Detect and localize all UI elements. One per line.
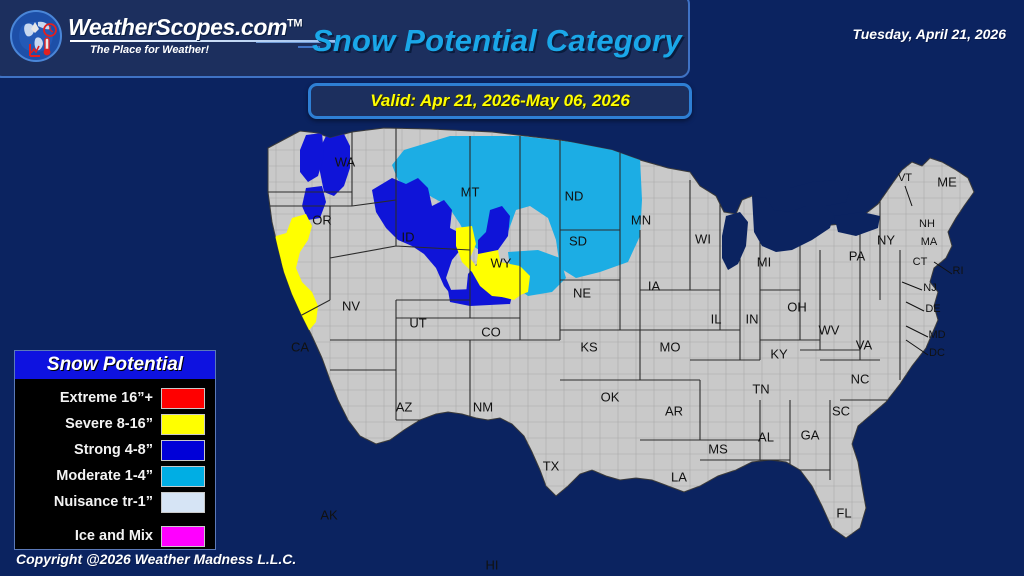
state-label-mo: MO xyxy=(660,339,681,354)
state-label-ky: KY xyxy=(770,346,788,361)
legend-item-ice-and-mix: Ice and Mix xyxy=(15,523,215,549)
valid-period-banner: Valid: Apr 21, 2026-May 06, 2026 xyxy=(308,83,692,119)
state-label-ca: CA xyxy=(291,339,309,354)
legend-rows: Extreme 16”+Severe 8-16”Strong 4-8”Moder… xyxy=(15,379,215,549)
legend-item-label: Ice and Mix xyxy=(75,528,153,544)
state-label-ny: NY xyxy=(877,232,895,247)
legend-item-strong: Strong 4-8” xyxy=(15,437,215,463)
legend-title: Snow Potential xyxy=(15,351,215,379)
legend-item-label: Nuisance tr-1” xyxy=(54,494,153,510)
state-label-ms: MS xyxy=(708,441,728,456)
legend-item-swatch xyxy=(161,440,205,461)
state-label-ma: MA xyxy=(921,236,938,248)
state-label-nm: NM xyxy=(473,399,493,414)
state-label-vt: VT xyxy=(898,172,912,184)
state-label-nc: NC xyxy=(851,371,870,386)
state-label-mn: MN xyxy=(631,212,651,227)
state-label-la: LA xyxy=(671,469,687,484)
legend-item-nuisance: Nuisance tr-1” xyxy=(15,489,215,515)
state-label-nd: ND xyxy=(565,188,584,203)
state-label-ok: OK xyxy=(601,389,620,404)
state-label-ri: RI xyxy=(953,265,964,277)
state-label-in: IN xyxy=(746,311,759,326)
brand-name: WeatherScopes.comTM xyxy=(68,14,302,41)
legend-item-severe: Severe 8-16” xyxy=(15,411,215,437)
state-label-hi: HI xyxy=(486,557,499,572)
state-label-ak: AK xyxy=(320,507,338,522)
legend-item-label: Strong 4-8” xyxy=(74,442,153,458)
state-label-mi: MI xyxy=(757,254,771,269)
state-label-mt: MT xyxy=(461,184,480,199)
state-label-nv: NV xyxy=(342,298,360,313)
state-label-md: MD xyxy=(928,329,945,341)
current-date: Tuesday, April 21, 2026 xyxy=(852,26,1006,42)
state-label-me: ME xyxy=(937,174,957,189)
legend-item-label: Severe 8-16” xyxy=(65,416,153,432)
state-label-ar: AR xyxy=(665,403,683,418)
state-label-il: IL xyxy=(711,311,722,326)
state-label-wi: WI xyxy=(695,231,711,246)
state-label-dc: DC xyxy=(929,347,945,359)
state-label-sd: SD xyxy=(569,233,587,248)
state-label-ne: NE xyxy=(573,285,591,300)
state-label-va: VA xyxy=(856,337,873,352)
state-label-sc: SC xyxy=(832,403,850,418)
legend-item-swatch xyxy=(161,414,205,435)
state-label-id: ID xyxy=(402,229,415,244)
snow-potential-legend: Snow Potential Extreme 16”+Severe 8-16”S… xyxy=(14,350,216,550)
state-label-ga: GA xyxy=(801,427,820,442)
weather-map-page: WAORCANVIDMTWYUTAZNMCONDSDNEKSOKTXMNIAMO… xyxy=(0,0,1024,576)
state-label-az: AZ xyxy=(396,399,413,414)
legend-item-extreme: Extreme 16”+ xyxy=(15,385,215,411)
trademark-symbol: TM xyxy=(287,17,302,29)
state-label-pa: PA xyxy=(849,248,866,263)
legend-item-label: Extreme 16”+ xyxy=(60,390,153,406)
state-label-tx: TX xyxy=(543,458,560,473)
state-label-wy: WY xyxy=(491,255,512,270)
weatherscopes-globe-logo xyxy=(8,8,64,64)
state-label-or: OR xyxy=(312,212,332,227)
legend-item-swatch xyxy=(161,466,205,487)
state-label-co: CO xyxy=(481,324,501,339)
state-label-tn: TN xyxy=(752,381,769,396)
state-label-al: AL xyxy=(758,429,774,444)
legend-item-moderate: Moderate 1-4” xyxy=(15,463,215,489)
legend-item-label: Moderate 1-4” xyxy=(56,468,153,484)
page-title: Snow Potential Category xyxy=(312,23,682,59)
state-label-ct: CT xyxy=(913,256,928,268)
state-label-oh: OH xyxy=(787,299,807,314)
legend-item-swatch xyxy=(161,492,205,513)
valid-period-text: Valid: Apr 21, 2026-May 06, 2026 xyxy=(311,86,689,116)
copyright-text: Copyright @2026 Weather Madness L.L.C. xyxy=(16,551,296,567)
legend-item-swatch xyxy=(161,526,205,547)
state-label-de: DE xyxy=(925,303,940,315)
legend-item-swatch xyxy=(161,388,205,409)
state-label-wv: WV xyxy=(819,322,840,337)
state-label-nj: NJ xyxy=(923,282,936,294)
state-label-fl: FL xyxy=(836,505,851,520)
state-label-ia: IA xyxy=(648,278,661,293)
state-label-ks: KS xyxy=(580,339,598,354)
brand-tagline: The Place for Weather! xyxy=(90,44,209,56)
state-label-wa: WA xyxy=(335,154,356,169)
state-label-ut: UT xyxy=(409,315,426,330)
state-label-nh: NH xyxy=(919,218,935,230)
